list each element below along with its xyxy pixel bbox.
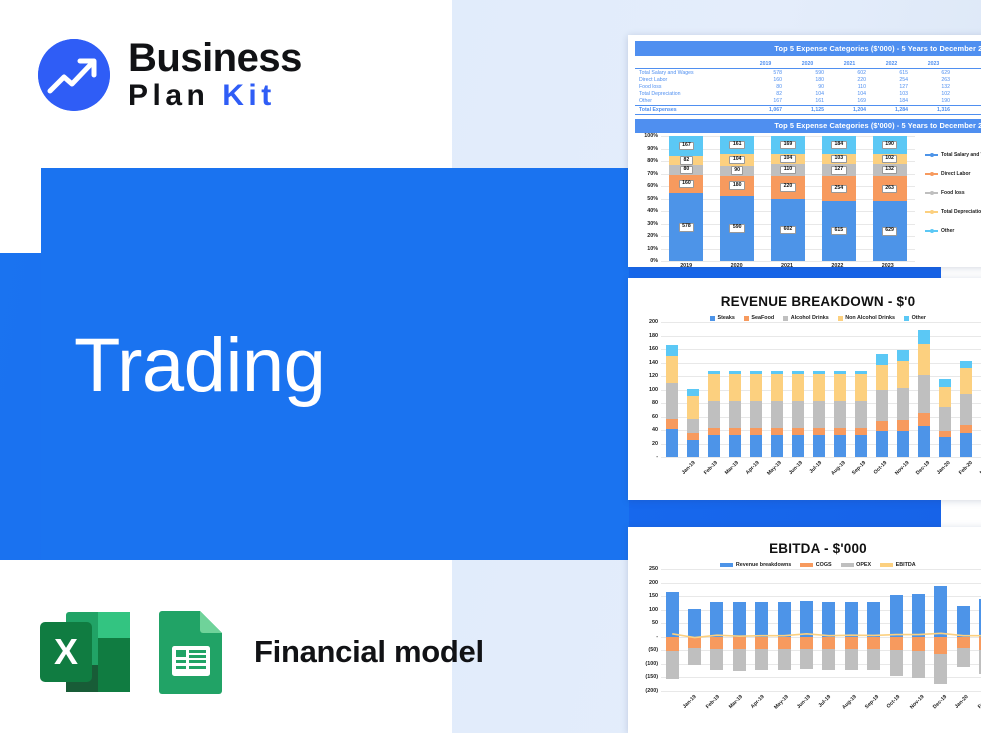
bar-segment bbox=[822, 649, 835, 671]
legend-label: Food loss bbox=[941, 190, 965, 196]
legend-item: SeaFood bbox=[744, 315, 774, 321]
bar-segment bbox=[771, 401, 783, 428]
axis-tick: 120 bbox=[649, 373, 658, 379]
data-label: 127 bbox=[831, 166, 846, 175]
brand-line1: Business bbox=[128, 38, 302, 78]
bar-segment bbox=[822, 602, 835, 637]
legend-swatch bbox=[783, 316, 788, 321]
revenue-chart-bars bbox=[661, 322, 981, 457]
bar-segment: 127 bbox=[822, 164, 856, 176]
bar-segment: 254 bbox=[822, 176, 856, 201]
axis-tick: 0% bbox=[650, 258, 658, 264]
bar-segment bbox=[897, 361, 909, 388]
axis-tick: 90% bbox=[647, 146, 658, 152]
bar-segment: 590 bbox=[720, 196, 754, 262]
axis-tick: Feb-19 bbox=[705, 694, 721, 710]
bar-segment bbox=[733, 649, 746, 671]
axis-tick: (200) bbox=[645, 688, 658, 694]
bar-segment: 161 bbox=[720, 136, 754, 154]
axis-tick: (50) bbox=[648, 647, 658, 653]
legend-label: Non Alcohol Drinks bbox=[845, 315, 895, 321]
axis-tick: 250 bbox=[649, 566, 658, 572]
bar-column bbox=[755, 569, 768, 691]
bar-segment bbox=[855, 374, 867, 401]
bar-segment bbox=[666, 345, 678, 356]
bar-segment bbox=[755, 649, 768, 671]
bar-segment bbox=[897, 420, 909, 431]
bar-segment bbox=[876, 431, 888, 457]
bar-segment bbox=[750, 428, 762, 435]
bar-segment bbox=[710, 649, 723, 670]
expense-chart-legend: Total Salary and WagesDirect LaborFood l… bbox=[925, 152, 981, 247]
bar-segment bbox=[867, 649, 880, 670]
axis-tick: - bbox=[656, 634, 658, 640]
bar-segment bbox=[687, 389, 699, 396]
bar-segment bbox=[957, 637, 970, 648]
bar-segment bbox=[939, 379, 951, 386]
axis-tick: 2021 bbox=[770, 263, 804, 267]
bar-column bbox=[710, 569, 723, 691]
legend-item: Other bbox=[925, 228, 981, 234]
axis-tick: Jan-19 bbox=[682, 694, 698, 710]
bar-column bbox=[822, 569, 835, 691]
bar-segment bbox=[934, 586, 947, 637]
bar-segment bbox=[876, 365, 888, 391]
bar-column: 16110490180590 bbox=[720, 136, 754, 261]
bar-segment: 184 bbox=[822, 136, 856, 154]
data-label: 132 bbox=[882, 166, 897, 175]
axis-tick: 10% bbox=[647, 246, 658, 252]
axis-tick: Dec-19 bbox=[915, 460, 931, 476]
axis-tick: Sep-19 bbox=[851, 460, 867, 476]
bar-segment bbox=[771, 435, 783, 457]
bar-segment bbox=[876, 390, 888, 421]
bar-segment: 103 bbox=[822, 154, 856, 164]
data-label: 220 bbox=[780, 183, 795, 192]
bar-segment bbox=[792, 374, 804, 401]
bar-segment bbox=[729, 428, 741, 435]
ebitda-chart-bars bbox=[661, 569, 981, 691]
bar-segment bbox=[939, 431, 951, 438]
expense-chart-yaxis: 0%10%20%30%40%50%60%70%80%90%100% bbox=[635, 136, 661, 261]
axis-tick: (100) bbox=[645, 661, 658, 667]
bar-column: 184103127254615 bbox=[822, 136, 856, 261]
data-label: 82 bbox=[680, 156, 693, 165]
bar-column: 190102132263629 bbox=[873, 136, 907, 261]
bar-segment bbox=[666, 592, 679, 637]
bar-segment bbox=[687, 440, 699, 457]
legend-label: SeaFood bbox=[751, 315, 774, 321]
ebitda-chart-legend: Revenue breakdownsCOGSOPEXEBITDA bbox=[635, 562, 981, 568]
data-label: 167 bbox=[679, 142, 694, 151]
legend-item: Non Alcohol Drinks bbox=[838, 315, 895, 321]
bar-segment bbox=[918, 330, 930, 344]
bar-column bbox=[867, 569, 880, 691]
bar-segment bbox=[755, 602, 768, 637]
bar-segment bbox=[792, 428, 804, 435]
revenue-chart-xlabels: Jan-19Feb-19Mar-19Apr-19May-19Jun-19Jul-… bbox=[661, 457, 981, 491]
bar-column bbox=[960, 322, 972, 457]
bar-segment: 132 bbox=[873, 164, 907, 177]
axis-tick: Apr-19 bbox=[745, 460, 761, 476]
bar-column bbox=[729, 322, 741, 457]
legend-label: Steaks bbox=[718, 315, 735, 321]
legend-label: OPEX bbox=[856, 562, 871, 568]
axis-tick: 40% bbox=[647, 208, 658, 214]
bar-segment bbox=[845, 649, 858, 670]
legend-item: Revenue breakdowns bbox=[720, 562, 791, 568]
bar-column bbox=[934, 569, 947, 691]
microsoft-excel-icon: X bbox=[38, 608, 134, 696]
legend-item: EBITDA bbox=[880, 562, 916, 568]
bar-segment: 90 bbox=[720, 166, 754, 176]
bar-segment bbox=[688, 609, 701, 637]
data-label: 110 bbox=[780, 166, 795, 175]
data-label: 180 bbox=[729, 181, 744, 190]
bar-segment bbox=[750, 401, 762, 428]
bar-column bbox=[771, 322, 783, 457]
bar-segment bbox=[813, 401, 825, 428]
card-revenue-breakdown[interactable]: REVENUE BREAKDOWN - $'0 SteaksSeaFoodAlc… bbox=[628, 278, 981, 500]
expense-100-stacked-chart: 0%10%20%30%40%50%60%70%80%90%100% 167828… bbox=[635, 136, 981, 261]
axis-tick: Nov-19 bbox=[909, 694, 925, 710]
bar-segment bbox=[912, 637, 925, 651]
bar-segment bbox=[912, 651, 925, 678]
bar-segment: 578 bbox=[669, 193, 703, 261]
axis-tick: Mar-19 bbox=[724, 460, 740, 476]
bar-segment bbox=[792, 435, 804, 457]
axis-tick: 40 bbox=[652, 427, 658, 433]
bar-segment bbox=[867, 637, 880, 649]
legend-swatch bbox=[800, 563, 813, 567]
axis-tick: Jan-20 bbox=[954, 694, 970, 710]
bar-segment bbox=[855, 401, 867, 428]
axis-tick: 20% bbox=[647, 233, 658, 239]
axis-tick: Jan-19 bbox=[681, 460, 697, 476]
legend-item: Other bbox=[904, 315, 926, 321]
data-label: 104 bbox=[729, 156, 744, 165]
axis-tick: Aug-19 bbox=[841, 694, 858, 711]
bar-column: 169104110220602 bbox=[771, 136, 805, 261]
legend-swatch bbox=[925, 154, 938, 156]
revenue-chart-title: REVENUE BREAKDOWN - $'0 bbox=[635, 294, 981, 309]
bar-column bbox=[800, 569, 813, 691]
legend-label: COGS bbox=[816, 562, 832, 568]
bar-segment: 263 bbox=[873, 176, 907, 201]
bar-column bbox=[845, 569, 858, 691]
bar-segment bbox=[855, 428, 867, 435]
bar-segment: 82 bbox=[669, 156, 703, 166]
bar-segment bbox=[918, 413, 930, 426]
svg-text:X: X bbox=[54, 631, 78, 672]
legend-swatch bbox=[838, 316, 843, 321]
data-label: 169 bbox=[780, 141, 795, 150]
bar-segment bbox=[708, 428, 720, 435]
bar-segment bbox=[834, 428, 846, 435]
legend-label: Other bbox=[941, 228, 954, 234]
axis-tick: May-19 bbox=[766, 460, 783, 477]
table-row: Total Expenses1,0671,1251,2041,2841,316 bbox=[635, 106, 981, 115]
bar-column bbox=[778, 569, 791, 691]
bar-segment bbox=[708, 435, 720, 457]
google-sheets-icon bbox=[156, 608, 226, 696]
bar-segment bbox=[666, 651, 679, 679]
bar-segment bbox=[750, 374, 762, 401]
card-expense-categories[interactable]: Top 5 Expense Categories ($'000) - 5 Yea… bbox=[628, 35, 981, 267]
axis-tick: 100 bbox=[649, 387, 658, 393]
legend-label: Total Salary and Wages bbox=[941, 152, 981, 158]
bar-segment bbox=[918, 375, 930, 413]
legend-item: COGS bbox=[800, 562, 831, 568]
bar-segment: 190 bbox=[873, 136, 907, 154]
bar-segment bbox=[771, 428, 783, 435]
bar-segment bbox=[708, 374, 720, 401]
data-label: 80 bbox=[680, 166, 693, 175]
axis-tick: Oct-19 bbox=[872, 460, 888, 476]
footer-label: Financial model bbox=[254, 634, 484, 670]
bar-column bbox=[897, 322, 909, 457]
axis-tick: Mar-19 bbox=[728, 694, 744, 710]
table-row: Total Salary and Wages578590602615629 bbox=[635, 69, 981, 77]
bar-segment: 180 bbox=[720, 176, 754, 196]
slide-canvas: Business Plan Kit Trading X bbox=[0, 0, 981, 733]
bar-column bbox=[918, 322, 930, 457]
expense-chart-bars: 1678280160578161104901805901691041102206… bbox=[661, 136, 915, 261]
bar-segment bbox=[822, 637, 835, 649]
footer-badges: X Financial model bbox=[38, 608, 484, 696]
bar-segment bbox=[890, 637, 903, 651]
brand-line2-prefix: Plan bbox=[128, 79, 209, 112]
data-label: 102 bbox=[882, 155, 897, 164]
bar-segment bbox=[666, 356, 678, 383]
legend-item: Alcohol Drinks bbox=[783, 315, 829, 321]
bar-column bbox=[688, 569, 701, 691]
axis-tick: (150) bbox=[645, 674, 658, 680]
data-label: 615 bbox=[831, 227, 846, 236]
bar-column bbox=[855, 322, 867, 457]
legend-swatch bbox=[904, 316, 909, 321]
bar-segment bbox=[897, 350, 909, 361]
table-row: Other167161169184190 bbox=[635, 98, 981, 106]
axis-tick: 2019 bbox=[669, 263, 703, 267]
bar-segment bbox=[934, 637, 947, 654]
axis-tick: 60% bbox=[647, 183, 658, 189]
ebitda-chart-title: EBITDA - $'000 bbox=[635, 541, 981, 556]
bar-segment bbox=[771, 374, 783, 401]
table-row: Direct Labor160180220254263 bbox=[635, 76, 981, 83]
bar-segment bbox=[729, 435, 741, 457]
bar-segment: 615 bbox=[822, 201, 856, 261]
axis-tick: 2023 bbox=[871, 263, 905, 267]
legend-swatch bbox=[841, 563, 854, 567]
bar-segment bbox=[918, 344, 930, 376]
axis-tick: 80 bbox=[652, 400, 658, 406]
legend-item: Steaks bbox=[710, 315, 735, 321]
axis-tick: 50 bbox=[652, 620, 658, 626]
axis-tick: Feb-20 bbox=[957, 460, 973, 476]
data-label: 254 bbox=[831, 185, 846, 194]
data-label: 578 bbox=[679, 223, 694, 232]
bar-segment bbox=[708, 401, 720, 428]
bar-segment: 160 bbox=[669, 175, 703, 194]
axis-tick: 200 bbox=[649, 319, 658, 325]
table-row: Food loss8090110127132 bbox=[635, 83, 981, 90]
brand-line2-accent: Kit bbox=[222, 79, 276, 112]
legend-swatch bbox=[925, 192, 938, 194]
axis-tick: Feb-20 bbox=[977, 694, 981, 710]
legend-label: Revenue breakdowns bbox=[736, 562, 791, 568]
axis-tick: 100% bbox=[644, 133, 658, 139]
legend-swatch bbox=[710, 316, 715, 321]
bar-segment bbox=[876, 354, 888, 365]
revenue-chart-legend: SteaksSeaFoodAlcohol DrinksNon Alcohol D… bbox=[635, 315, 981, 321]
bar-segment: 220 bbox=[771, 176, 805, 199]
legend-label: Direct Labor bbox=[941, 171, 970, 177]
axis-tick: 160 bbox=[649, 346, 658, 352]
bar-segment bbox=[666, 383, 678, 418]
expense-chart-xlabels: 20192020202120222023 bbox=[661, 263, 913, 267]
bar-column bbox=[890, 569, 903, 691]
bar-column bbox=[939, 322, 951, 457]
bar-segment: 104 bbox=[771, 154, 805, 165]
axis-tick: Aug-19 bbox=[830, 460, 847, 477]
bar-segment: 169 bbox=[771, 136, 805, 154]
bar-segment bbox=[897, 431, 909, 457]
bar-column bbox=[834, 322, 846, 457]
bar-segment bbox=[834, 435, 846, 457]
bar-segment: 167 bbox=[669, 136, 703, 156]
bar-segment bbox=[934, 654, 947, 684]
brand-logo: Business Plan Kit bbox=[38, 38, 302, 111]
bar-segment bbox=[792, 401, 804, 428]
bar-segment bbox=[800, 637, 813, 649]
bar-segment bbox=[912, 594, 925, 637]
bar-column bbox=[666, 569, 679, 691]
legend-item: Direct Labor bbox=[925, 171, 981, 177]
bar-segment bbox=[939, 407, 951, 431]
legend-label: Total Depreciation bbox=[941, 209, 981, 215]
bar-segment bbox=[813, 374, 825, 401]
bar-segment bbox=[834, 401, 846, 428]
bar-segment bbox=[939, 437, 951, 457]
axis-tick: 50% bbox=[647, 196, 658, 202]
bar-segment bbox=[755, 637, 768, 649]
bar-segment bbox=[960, 425, 972, 434]
bar-segment bbox=[729, 401, 741, 428]
bar-segment bbox=[813, 428, 825, 435]
bar-segment bbox=[957, 648, 970, 667]
axis-tick: Apr-19 bbox=[750, 694, 766, 710]
bar-segment bbox=[876, 421, 888, 431]
bar-column bbox=[708, 322, 720, 457]
bar-segment bbox=[778, 637, 791, 649]
legend-swatch bbox=[925, 173, 938, 175]
bar-segment bbox=[687, 433, 699, 440]
axis-tick: 70% bbox=[647, 171, 658, 177]
data-label: 184 bbox=[831, 141, 846, 150]
expense-table-title: Top 5 Expense Categories ($'000) - 5 Yea… bbox=[635, 41, 981, 56]
gridline bbox=[661, 261, 915, 262]
axis-tick: Jun-19 bbox=[787, 460, 803, 476]
axis-tick: 150 bbox=[649, 593, 658, 599]
bar-segment bbox=[710, 637, 723, 649]
bar-segment bbox=[845, 602, 858, 637]
card-ebitda[interactable]: EBITDA - $'000 Revenue breakdownsCOGSOPE… bbox=[628, 527, 981, 733]
axis-tick: 100 bbox=[649, 607, 658, 613]
bar-column bbox=[876, 322, 888, 457]
axis-tick: May-19 bbox=[773, 694, 790, 711]
axis-tick: - bbox=[656, 454, 658, 460]
bar-segment bbox=[733, 637, 746, 649]
bar-segment: 110 bbox=[771, 164, 805, 175]
bar-segment bbox=[960, 394, 972, 424]
axis-tick: 60 bbox=[652, 414, 658, 420]
axis-tick: 140 bbox=[649, 360, 658, 366]
bar-column bbox=[666, 322, 678, 457]
legend-swatch bbox=[925, 230, 938, 232]
bar-column bbox=[792, 322, 804, 457]
bar-segment bbox=[960, 433, 972, 457]
bar-segment bbox=[687, 396, 699, 420]
bar-segment bbox=[855, 435, 867, 457]
bar-segment bbox=[778, 602, 791, 637]
bar-segment bbox=[800, 601, 813, 637]
bar-column bbox=[687, 322, 699, 457]
bar-segment bbox=[960, 361, 972, 368]
legend-label: Other bbox=[912, 315, 926, 321]
data-label: 103 bbox=[831, 155, 846, 164]
bar-segment bbox=[897, 388, 909, 420]
bar-column bbox=[957, 569, 970, 691]
legend-item: OPEX bbox=[841, 562, 871, 568]
axis-tick: Feb-19 bbox=[702, 460, 718, 476]
bar-segment: 602 bbox=[771, 199, 805, 261]
bar-column bbox=[813, 322, 825, 457]
axis-tick: Jun-19 bbox=[796, 694, 812, 710]
bar-segment bbox=[733, 602, 746, 637]
bar-column bbox=[750, 322, 762, 457]
ebitda-chart-plot: (200)(150)(100)(50)-50100150200250 bbox=[635, 569, 981, 691]
revenue-chart-yaxis: -20406080100120140160180200 bbox=[635, 322, 661, 457]
bar-segment bbox=[750, 435, 762, 457]
bar-segment: 80 bbox=[669, 165, 703, 174]
axis-tick: 200 bbox=[649, 580, 658, 586]
table-row: Total Depreciation82104104103102 bbox=[635, 91, 981, 98]
bar-segment bbox=[666, 429, 678, 457]
axis-tick: Jan-20 bbox=[936, 460, 952, 476]
bar-segment: 629 bbox=[873, 201, 907, 261]
data-label: 629 bbox=[882, 227, 897, 236]
bar-segment: 104 bbox=[720, 154, 754, 166]
bar-column bbox=[733, 569, 746, 691]
legend-swatch bbox=[720, 563, 733, 567]
data-label: 602 bbox=[780, 226, 795, 235]
axis-tick: 2020 bbox=[720, 263, 754, 267]
bar-segment bbox=[960, 368, 972, 394]
expense-table: 20192020202120222023Total Salary and Wag… bbox=[635, 61, 981, 115]
bar-segment bbox=[813, 435, 825, 457]
brand-line2: Plan Kit bbox=[128, 81, 302, 111]
axis-tick: Nov-19 bbox=[894, 460, 910, 476]
bar-segment bbox=[834, 374, 846, 401]
axis-tick: 180 bbox=[649, 333, 658, 339]
ebitda-chart-xlabels: Jan-19Feb-19Mar-19Apr-19May-19Jun-19Jul-… bbox=[661, 691, 981, 721]
revenue-chart-plot: -20406080100120140160180200 bbox=[635, 322, 981, 457]
legend-swatch bbox=[880, 563, 893, 567]
bar-segment bbox=[688, 648, 701, 665]
legend-item: Total Depreciation bbox=[925, 209, 981, 215]
legend-label: Alcohol Drinks bbox=[791, 315, 829, 321]
